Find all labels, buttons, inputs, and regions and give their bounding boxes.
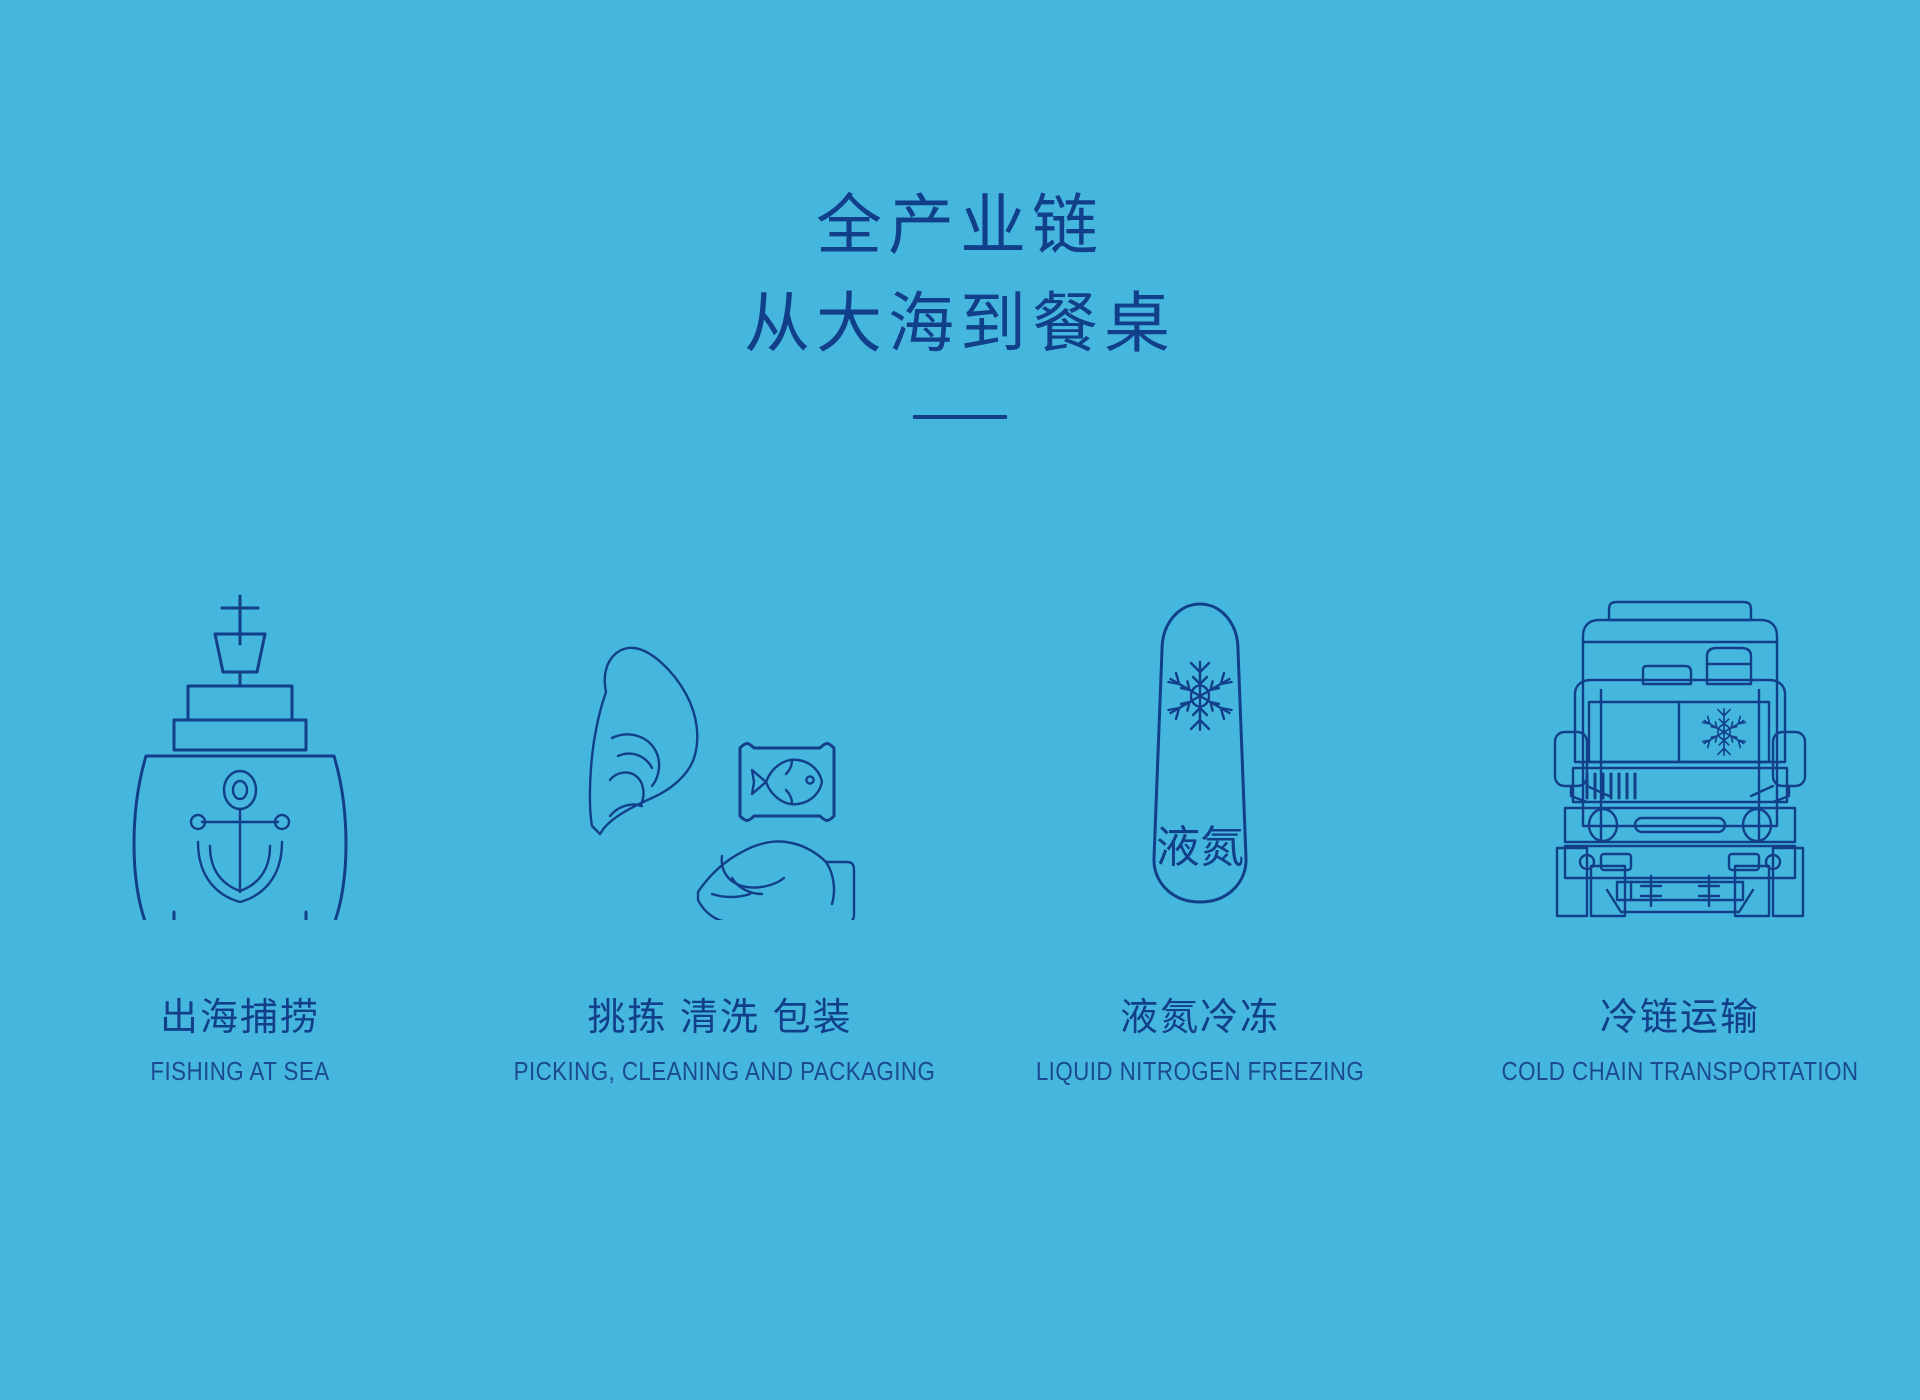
page-title-line-1: 全产业链 (0, 180, 1920, 274)
step-label-cn: 出海捕捞 (0, 996, 480, 1042)
process-steps-row: 出海捕捞 FISHING AT SEA (0, 520, 1920, 1087)
step-labels: 出海捕捞 FISHING AT SEA (0, 996, 480, 1087)
step-liquid-nitrogen-freezing[interactable]: 液氮 液氮冷冻 LIQUID NITROGEN FREEZING (960, 520, 1440, 1087)
step-labels: 挑拣 清洗 包装 PICKING, CLEANING AND PACKAGING (480, 996, 960, 1087)
divider-wrap (0, 415, 1920, 419)
step-label-en: FISHING AT SEA (34, 1056, 447, 1087)
nitrogen-tank-label: 液氮 (1156, 823, 1244, 872)
step-label-en: COLD CHAIN TRANSPORTATION (1474, 1056, 1887, 1087)
step-label-en: LIQUID NITROGEN FREEZING (994, 1056, 1407, 1087)
nitrogen-tank-icon: 液氮 (1050, 520, 1350, 920)
page-title-line-2: 从大海到餐桌 (0, 278, 1920, 372)
step-picking-cleaning-packaging[interactable]: 挑拣 清洗 包装 PICKING, CLEANING AND PACKAGING (480, 520, 960, 1087)
step-label-cn: 液氮冷冻 (960, 996, 1440, 1042)
step-label-cn: 挑拣 清洗 包装 (480, 996, 960, 1042)
step-cold-chain-transportation[interactable]: 冷链运输 COLD CHAIN TRANSPORTATION (1440, 520, 1920, 1087)
title-divider (913, 415, 1007, 419)
step-labels: 液氮冷冻 LIQUID NITROGEN FREEZING (960, 996, 1440, 1087)
page-root: 全产业链 从大海到餐桌 (0, 0, 1920, 1400)
hands-packaged-fish-icon (570, 520, 870, 920)
fishing-boat-icon (90, 520, 390, 920)
step-label-en: PICKING, CLEANING AND PACKAGING (514, 1056, 927, 1087)
step-labels: 冷链运输 COLD CHAIN TRANSPORTATION (1440, 996, 1920, 1087)
step-fishing-at-sea[interactable]: 出海捕捞 FISHING AT SEA (0, 520, 480, 1087)
refrigerated-truck-icon (1525, 520, 1835, 920)
page-header: 全产业链 从大海到餐桌 (0, 180, 1920, 419)
step-label-cn: 冷链运输 (1440, 996, 1920, 1042)
